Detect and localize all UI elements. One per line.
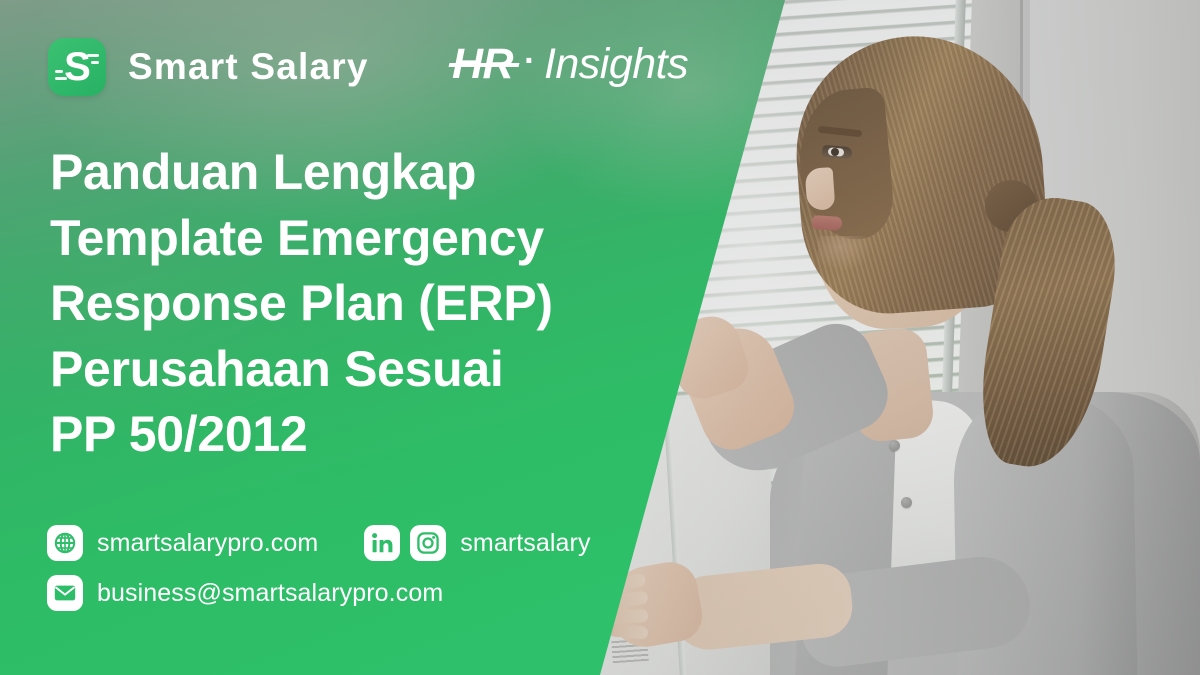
headline-line-3: Response Plan (ERP) [50, 271, 690, 337]
globe-icon[interactable] [47, 525, 83, 561]
website-label[interactable]: smartsalarypro.com [97, 529, 318, 558]
hr-insights-word: Insights [544, 40, 688, 89]
hr-monogram: HR [452, 40, 515, 89]
content-layer: S Smart Salary HR · Insights Panduan Len… [0, 0, 785, 675]
headline-line-2: Template Emergency [50, 206, 690, 272]
instagram-icon[interactable] [410, 525, 446, 561]
contact-row-web-social: smartsalarypro.com [47, 521, 591, 565]
smart-salary-s-logo-icon: S [48, 38, 106, 96]
email-label[interactable]: business@smartsalarypro.com [97, 579, 443, 608]
logo-motion-dash-3 [55, 77, 67, 80]
banner-canvas: S Smart Salary HR · Insights Panduan Len… [0, 0, 1200, 675]
hr-insights-logo: HR · Insights [452, 40, 688, 89]
logo-motion-dash-2 [91, 61, 99, 64]
logo-motion-dash-4 [55, 70, 63, 73]
headline-line-1: Panduan Lengkap [50, 140, 690, 206]
page-title: Panduan Lengkap Template Emergency Respo… [50, 140, 690, 468]
social-links [364, 525, 446, 561]
brand-name: Smart Salary [128, 46, 369, 88]
brand-lockup[interactable]: S Smart Salary [48, 38, 369, 96]
headline-line-5: PP 50/2012 [50, 402, 690, 468]
hr-separator-dot: · [524, 42, 535, 81]
contact-block: smartsalarypro.com [47, 521, 591, 615]
logo-letter-s: S [48, 38, 106, 96]
hr-monogram-crossbar [449, 63, 520, 67]
linkedin-icon[interactable] [364, 525, 400, 561]
envelope-icon[interactable] [47, 575, 83, 611]
headline-line-4: Perusahaan Sesuai [50, 337, 690, 403]
contact-row-email: business@smartsalarypro.com [47, 571, 591, 615]
logo-motion-dash-1 [87, 54, 99, 57]
social-handle[interactable]: smartsalary [460, 529, 590, 558]
